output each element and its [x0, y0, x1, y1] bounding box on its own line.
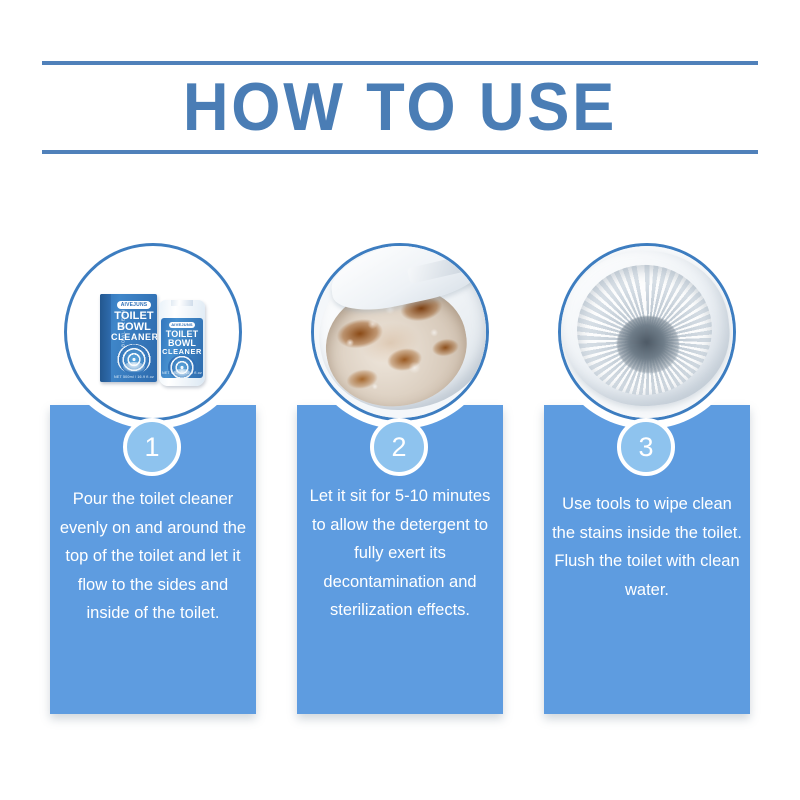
- product-bottle-net-contents: NET 500ml / 16.9 fl.oz: [161, 371, 203, 375]
- product-bottle: AIVEJUNS TOILET BOWL CLEANER NET 500ml /…: [159, 300, 205, 386]
- bottle-cap: [171, 300, 193, 306]
- step-caption-1: Pour the toilet cleaner evenly on and ar…: [58, 485, 248, 628]
- step-caption-3-line-1: Use tools to wipe clean the stains insid…: [552, 490, 742, 547]
- product-photo: TOILET BOWL CLEANER AIVEJUNS TOILET BOWL…: [67, 246, 239, 418]
- step-number-badge-3: 3: [617, 418, 675, 476]
- product-box-swirl-graphic: [117, 344, 151, 374]
- page-header: HOW TO USE: [0, 0, 800, 160]
- title-rule-bottom: [42, 150, 758, 154]
- step-caption-3-line-2: Flush the toilet with clean water.: [552, 547, 742, 604]
- steps-container: TOILET BOWL CLEANER AIVEJUNS TOILET BOWL…: [0, 240, 800, 740]
- step-card-2: 2 Let it sit for 5-10 minutes to allow t…: [297, 240, 503, 720]
- step-1-image: TOILET BOWL CLEANER AIVEJUNS TOILET BOWL…: [64, 243, 242, 421]
- step-number-badge-2: 2: [370, 418, 428, 476]
- step-3-image: [558, 243, 736, 421]
- product-bottle-title: TOILET BOWL CLEANER: [161, 330, 203, 356]
- step-caption-2: Let it sit for 5-10 minutes to allow the…: [305, 482, 495, 625]
- product-box-net-contents: NET 500ml / 16.9 fl.oz: [111, 375, 157, 379]
- step-2-image: [311, 243, 489, 421]
- step-number-badge-1: 1: [123, 418, 181, 476]
- step-caption-3: Use tools to wipe clean the stains insid…: [552, 490, 742, 604]
- water-vortex-shape: [617, 316, 679, 374]
- page-title: HOW TO USE: [28, 66, 772, 148]
- product-box-brand: AIVEJUNS: [117, 301, 151, 309]
- step-caption-2-line-1: Let it sit for 5-10 minutes to allow the…: [305, 482, 495, 625]
- product-box: TOILET BOWL CLEANER AIVEJUNS TOILET BOWL…: [100, 294, 157, 382]
- title-rule-top: [42, 61, 758, 65]
- product-bottle-brand: AIVEJUNS: [169, 322, 195, 328]
- step-caption-1-line-1: Pour the toilet cleaner evenly on and ar…: [58, 485, 248, 628]
- product-box-title: TOILET BOWL CLEANER: [111, 311, 157, 343]
- product-box-side-panel: TOILET BOWL CLEANER: [100, 294, 111, 382]
- step-card-3: 3 Use tools to wipe clean the stains ins…: [544, 240, 750, 720]
- dirty-toilet-photo: [314, 246, 486, 418]
- step-card-1: TOILET BOWL CLEANER AIVEJUNS TOILET BOWL…: [50, 240, 256, 720]
- clean-toilet-photo: [561, 246, 733, 418]
